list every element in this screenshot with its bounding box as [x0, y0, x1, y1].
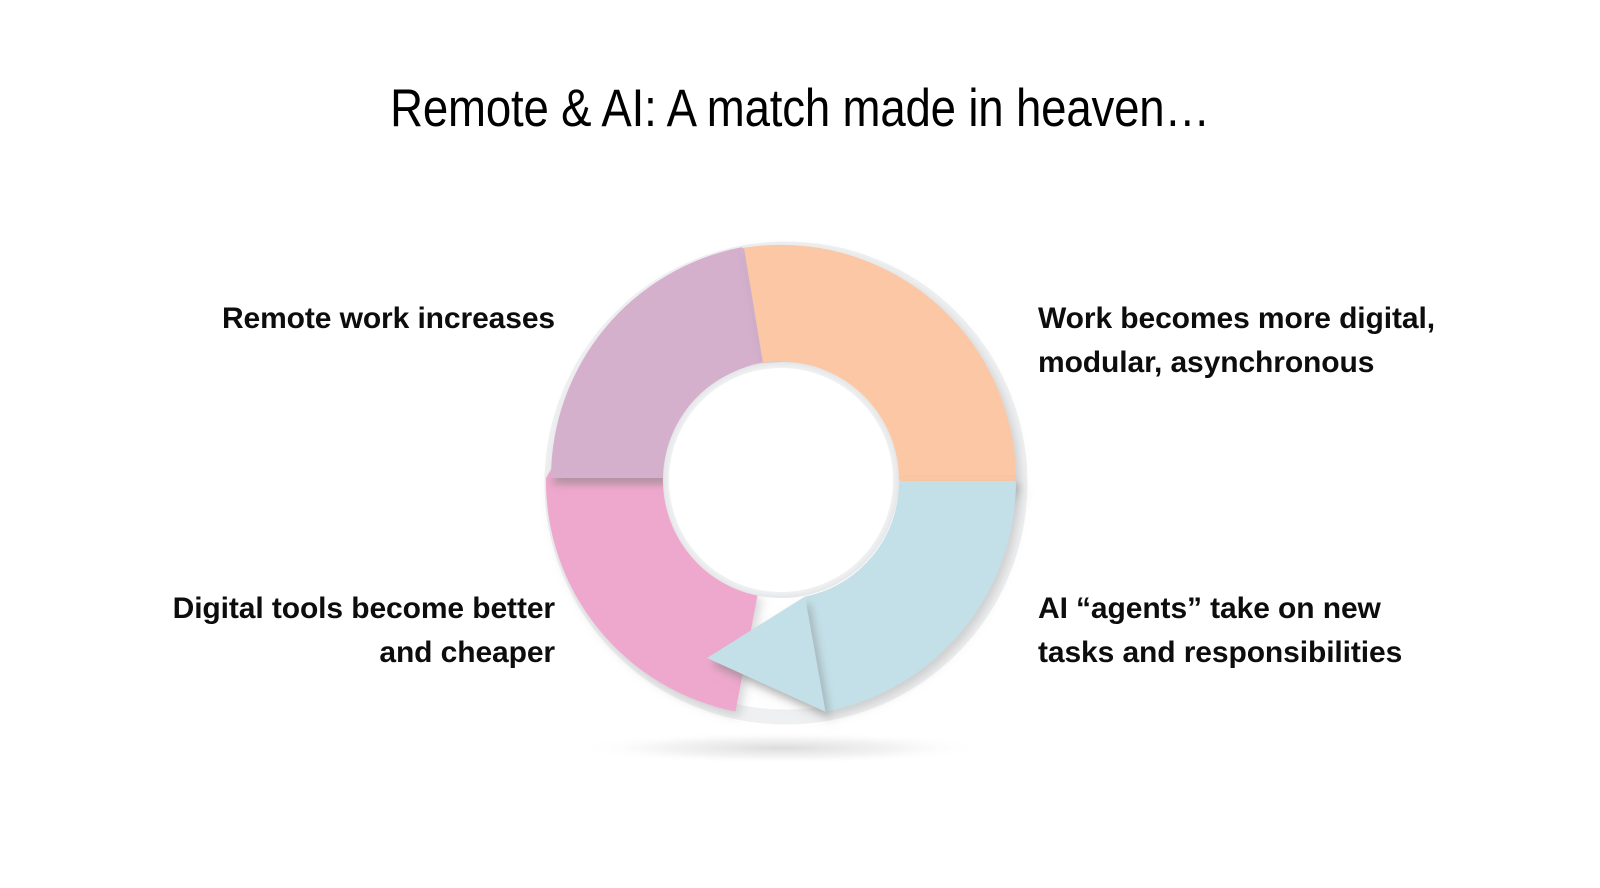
callout-remote-work: Remote work increases	[100, 297, 555, 341]
callout-digital-tools-line-1: Digital tools become better	[60, 587, 555, 631]
ground-shadow	[576, 732, 986, 764]
cycle-inner-hole-core	[669, 368, 893, 592]
callout-digital-work-line-2: modular, asynchronous	[1038, 341, 1558, 385]
callout-digital-tools-line-2: and cheaper	[60, 631, 555, 675]
callout-ai-agents: AI “agents” take on new tasks and respon…	[1038, 587, 1558, 674]
callout-digital-tools: Digital tools become better and cheaper	[60, 587, 555, 674]
callout-ai-agents-line-1: AI “agents” take on new	[1038, 587, 1558, 631]
callout-digital-work-line-1: Work becomes more digital,	[1038, 297, 1558, 341]
slide-canvas: Remote & AI: A match made in heaven…	[0, 0, 1600, 888]
page-title: Remote & AI: A match made in heaven…	[112, 80, 1488, 138]
cycle-diagram	[500, 195, 1060, 765]
callout-remote-work-line-1: Remote work increases	[100, 297, 555, 341]
callout-ai-agents-line-2: tasks and responsibilities	[1038, 631, 1558, 675]
callout-digital-work: Work becomes more digital, modular, asyn…	[1038, 297, 1558, 384]
